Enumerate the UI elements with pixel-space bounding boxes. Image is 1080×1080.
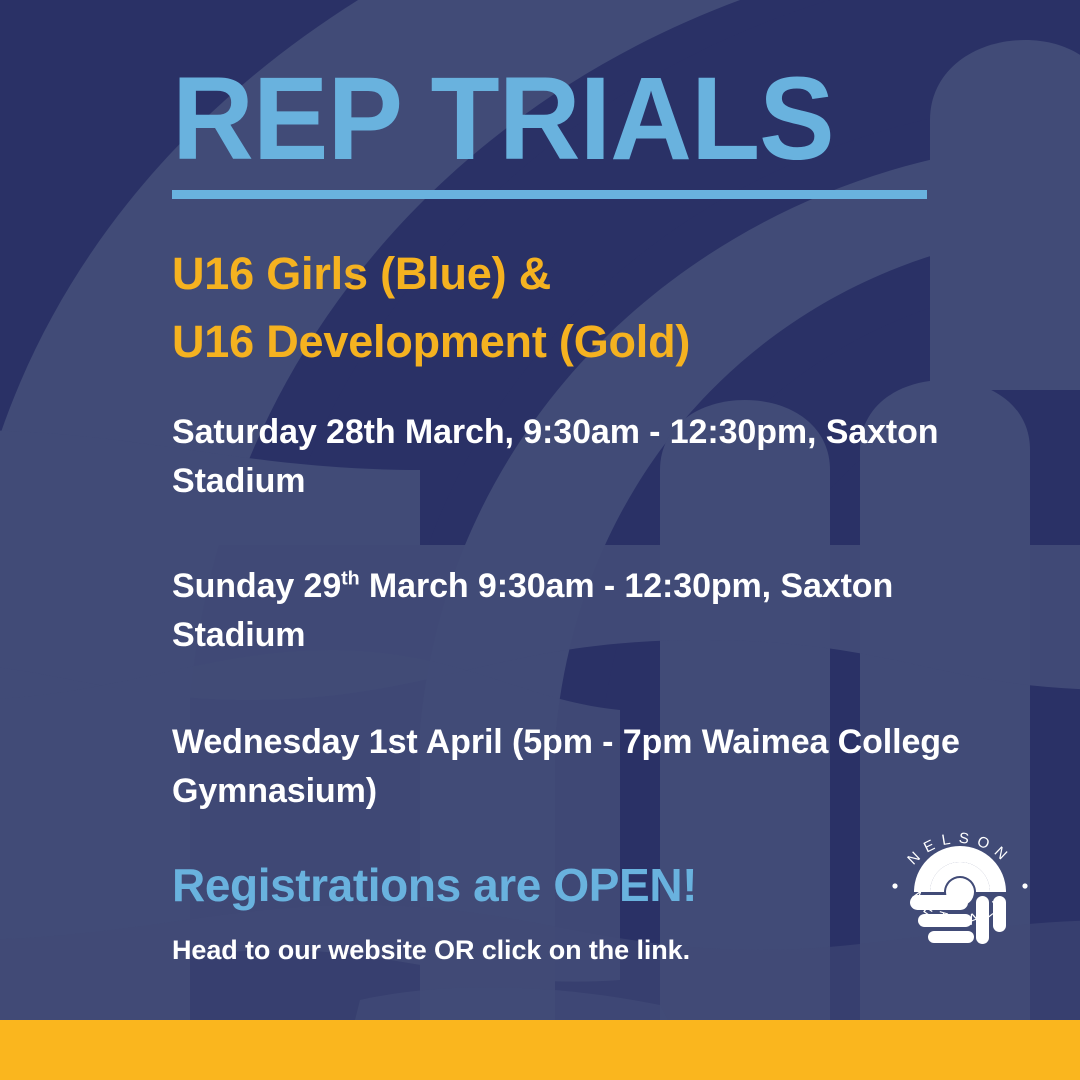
session-date-ordinal: th [341, 568, 359, 590]
session-item: Saturday 28th March, 9:30am - 12:30pm, S… [172, 408, 962, 506]
session-date-prefix: Sunday 29 [172, 567, 341, 605]
nelson-netball-logo: NELSON NETBALL [880, 800, 1040, 960]
logo-dot-left [892, 883, 897, 888]
cta-subtext: Head to our website OR click on the link… [172, 935, 690, 966]
headline-underline [172, 190, 927, 199]
session-item: Sunday 29th March 9:30am - 12:30pm, Saxt… [172, 562, 962, 660]
cta-headline: Registrations are OPEN! [172, 858, 697, 912]
logo-dot-right [1022, 883, 1027, 888]
headline-block: REP TRIALS [172, 60, 972, 199]
session-item: Wednesday 1st April (5pm - 7pm Waimea Co… [172, 718, 962, 816]
poster-canvas: REP TRIALS U16 Girls (Blue) & U16 Develo… [0, 0, 1080, 1080]
bottom-gold-band [0, 1020, 1080, 1080]
page-title: REP TRIALS [172, 60, 940, 178]
subtitle-line-1: U16 Girls (Blue) & [172, 248, 551, 299]
subtitle: U16 Girls (Blue) & U16 Development (Gold… [172, 240, 1032, 377]
subtitle-line-2: U16 Development (Gold) [172, 316, 690, 367]
